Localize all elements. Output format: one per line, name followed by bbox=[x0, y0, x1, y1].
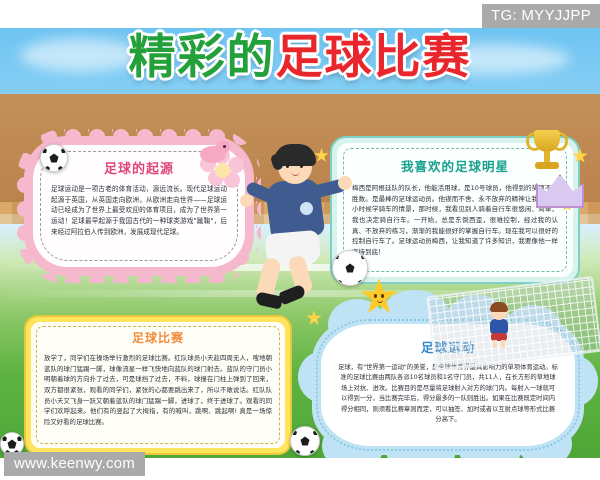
soccer-ball-icon bbox=[332, 250, 368, 286]
box-match-body: 放学了，同学们在操场举行激烈的足球比赛。红队球员小天趁四周无人，嗖地朝蓝队的球门… bbox=[24, 346, 292, 427]
cloud-decoration bbox=[420, 44, 570, 74]
smiling-star-icon bbox=[360, 278, 398, 316]
crown-icon bbox=[536, 174, 580, 204]
boy-kicking-ball-illustration bbox=[240, 140, 350, 330]
soccer-ball-icon bbox=[290, 426, 320, 456]
small-child-illustration bbox=[486, 304, 512, 348]
gold-trophy-icon bbox=[525, 128, 569, 178]
website-watermark: www.keenwy.com bbox=[4, 452, 145, 476]
soccer-ball-icon bbox=[40, 144, 68, 172]
cloud-decoration bbox=[20, 38, 140, 72]
pink-bird-icon bbox=[196, 140, 230, 166]
text-box-match: 足球比赛 放学了，同学们在操场举行激烈的足球比赛。红队球员小天趁四周无人，嗖地朝… bbox=[24, 315, 292, 455]
poster-canvas: 精彩的足球比赛 足球的起源 足球运动是一项古老的体育活动，源远流长。现代足球运动… bbox=[0, 28, 600, 458]
telegram-watermark: TG: MYYJJPP bbox=[482, 4, 600, 28]
title-text-green: 精彩的 bbox=[129, 30, 276, 85]
